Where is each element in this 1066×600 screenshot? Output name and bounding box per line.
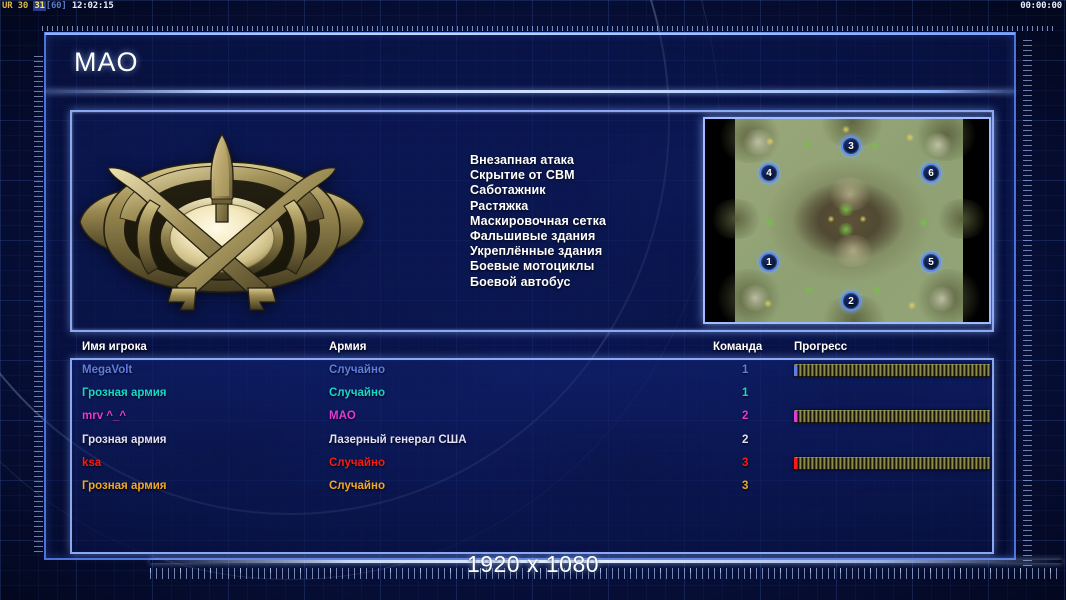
table-row[interactable]: ksa Случайно 3 [76, 455, 1006, 478]
terrain-blob [831, 235, 875, 267]
top-status-bar: UR 30 31[60] 12:02:15 00:00:00 [0, 0, 1066, 12]
player-name: Грозная армия [82, 387, 167, 399]
ability-item: Боевой автобус [470, 275, 705, 290]
map-start-position-4[interactable]: 4 [759, 163, 779, 183]
map-start-label: 1 [766, 257, 772, 268]
map-start-label: 3 [848, 141, 854, 152]
terrain-blob [741, 129, 775, 155]
map-terrain: 1 2 3 4 5 6 [735, 119, 963, 322]
player-progress-bar [794, 410, 990, 423]
player-army: Случайно [329, 364, 385, 376]
map-start-label: 4 [766, 168, 772, 179]
column-header-team: Команда [713, 341, 762, 353]
resolution-label: 1920 x 1080 [0, 551, 1066, 578]
player-name: Грозная армия [82, 434, 167, 446]
player-table-header: Имя игрока Армия Команда Прогресс [76, 341, 1006, 359]
terrain-blob [927, 287, 957, 311]
map-start-position-5[interactable]: 5 [921, 252, 941, 272]
map-start-label: 2 [848, 296, 854, 307]
column-header-progress: Прогресс [794, 341, 847, 353]
player-army: Лазерный генерал США [329, 434, 467, 446]
map-prop [763, 299, 773, 308]
page-title: MAO [74, 47, 139, 78]
player-team: 3 [742, 480, 748, 492]
map-start-position-2[interactable]: 2 [841, 291, 861, 311]
ruler-right [1023, 40, 1032, 568]
ability-item: Боевые мотоциклы [470, 259, 705, 274]
player-team: 1 [742, 387, 748, 399]
status-value-b: 31 [33, 1, 45, 11]
progress-nub [794, 365, 797, 376]
player-team: 2 [742, 434, 748, 446]
player-army: MAO [329, 410, 356, 422]
map-prop [765, 137, 775, 146]
player-table-rows: MegaVolt Случайно 1 Грозная армия Случай… [76, 362, 1006, 501]
status-value-a: 30 [18, 1, 28, 11]
map-prop [907, 301, 917, 310]
terrain-blob [709, 199, 763, 239]
status-timer: 00:00:00 [1020, 0, 1062, 12]
map-prop [801, 139, 813, 149]
status-bracket: [60] [46, 1, 67, 11]
table-row[interactable]: MegaVolt Случайно 1 [76, 362, 1006, 385]
player-progress-bar [794, 364, 990, 377]
title-bar: MAO [46, 34, 1014, 90]
terrain-blob [827, 177, 873, 211]
map-prop [871, 285, 883, 295]
column-header-army: Армия [329, 341, 366, 353]
ability-item: Растяжка [470, 199, 705, 214]
terrain-blob [915, 269, 983, 324]
map-prop [763, 217, 776, 228]
ability-item: Маскировочная сетка [470, 214, 705, 229]
map-prop [859, 215, 867, 223]
map-start-label: 6 [928, 168, 934, 179]
player-team: 3 [742, 457, 748, 469]
map-start-label: 5 [928, 257, 934, 268]
player-name: ksa [82, 457, 101, 469]
player-progress-bar [794, 457, 990, 470]
ability-item: Внезапная атака [470, 153, 705, 168]
status-left-group: UR 30 31[60] 12:02:15 [2, 0, 114, 12]
status-ur-label: UR [2, 1, 12, 11]
terrain-blob [935, 199, 989, 239]
ruler-left [34, 56, 43, 556]
player-name: Грозная армия [82, 480, 167, 492]
terrain-blob [913, 117, 979, 161]
ability-item: Саботажник [470, 183, 705, 198]
player-army: Случайно [329, 457, 385, 469]
player-army: Случайно [329, 387, 385, 399]
map-prop [835, 203, 857, 216]
terrain-blob [715, 269, 783, 324]
player-name: MegaVolt [82, 364, 132, 376]
map-prop [841, 125, 851, 134]
terrain-blob [923, 133, 953, 157]
column-header-player-name: Имя игрока [82, 341, 147, 353]
terrain-blob [717, 117, 783, 163]
table-row[interactable]: Грозная армия Случайно 1 [76, 385, 1006, 408]
map-prop [869, 141, 881, 151]
map-start-position-1[interactable]: 1 [759, 252, 779, 272]
terrain-blob [739, 285, 771, 311]
map-prop [905, 133, 915, 142]
map-prop [917, 217, 930, 228]
map-start-position-3[interactable]: 3 [841, 136, 861, 156]
game-lobby-screen: UR 30 31[60] 12:02:15 00:00:00 MAO [0, 0, 1066, 600]
ability-item: Скрытие от СВМ [470, 168, 705, 183]
progress-nub [794, 411, 797, 422]
map-prop [835, 223, 857, 236]
map-start-position-6[interactable]: 6 [921, 163, 941, 183]
map-prop [803, 285, 815, 295]
status-clock: 12:02:15 [72, 1, 114, 11]
map-prop [827, 215, 835, 223]
ability-item: Укреплённые здания [470, 244, 705, 259]
table-row[interactable]: mrv ^_^ MAO 2 [76, 408, 1006, 431]
player-team: 2 [742, 410, 748, 422]
player-team: 1 [742, 364, 748, 376]
faction-ability-list: Внезапная атака Скрытие от СВМ Саботажни… [470, 153, 705, 290]
progress-nub [794, 458, 797, 469]
player-army: Случайно [329, 480, 385, 492]
title-underline [46, 90, 1014, 93]
player-name: mrv ^_^ [82, 410, 126, 422]
table-row[interactable]: Грозная армия Случайно 3 [76, 478, 1006, 501]
map-preview[interactable]: 1 2 3 4 5 6 [703, 117, 991, 324]
table-row[interactable]: Грозная армия Лазерный генерал США 2 [76, 432, 1006, 455]
ability-item: Фальшивые здания [470, 229, 705, 244]
